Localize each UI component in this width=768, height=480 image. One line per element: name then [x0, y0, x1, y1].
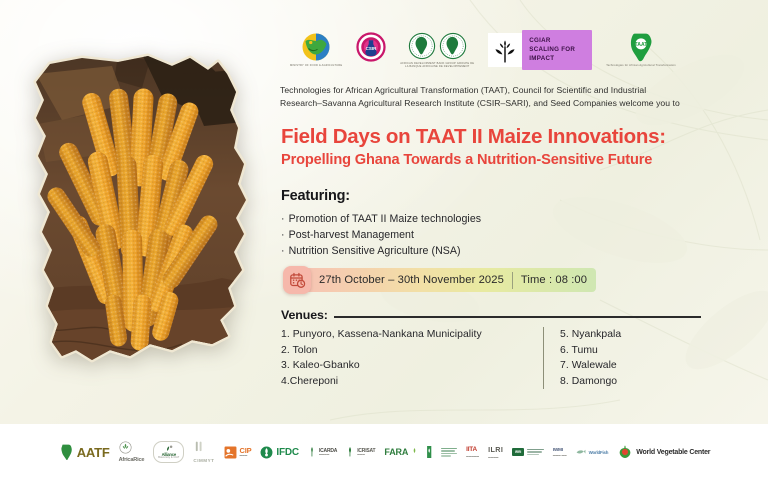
- featuring-list: ·Promotion of TAAT II Maize technologies…: [281, 211, 701, 259]
- ministry-logo-caption: MINISTRY OF FOOD & AGRICULTURE: [290, 64, 342, 67]
- ministry-of-food-and-agriculture-logo: MINISTRY OF FOOD & AGRICULTURE: [290, 32, 342, 67]
- featuring-item-label: Post-harvest Management: [289, 227, 414, 243]
- africarice-logo: AfricaRice: [119, 441, 145, 463]
- icrisat-logo: ICRISAT ▬▬▬: [346, 447, 375, 457]
- irri-mark: IRRI: [512, 448, 524, 456]
- schedule-pill: 27th October – 30th November 2025 Time :…: [301, 268, 596, 292]
- fara-wordmark: FARA: [384, 447, 408, 457]
- cgiar-logo: CGIAR SCALING FOR IMPACT: [488, 30, 592, 71]
- bullet-icon: ·: [281, 211, 285, 227]
- irri-wordmark-lines: [527, 449, 544, 456]
- list-item: 2. Tolon: [281, 343, 543, 359]
- bioversity-wordmark-lines: [441, 448, 457, 457]
- venues-rule: [334, 316, 701, 318]
- list-item: ·Post-harvest Management: [281, 227, 701, 243]
- icrisat-subtitle: ▬▬▬: [357, 454, 365, 457]
- cimmyt-logo: CIMMYT: [193, 441, 214, 463]
- cip-logo: CIP ▬▬▬: [224, 446, 252, 459]
- intro-line-1: Technologies for African Agricultural Tr…: [280, 84, 750, 97]
- icarda-logo: ICARDA ▬▬▬▬: [308, 447, 337, 457]
- venues-section: Venues: 1. Punyoro, Kassena-Nankana Muni…: [281, 308, 701, 389]
- alliance-subtitle: Bioversity & CIAT: [158, 457, 179, 460]
- list-item: 1. Punyoro, Kassena-Nankana Municipality: [281, 327, 543, 343]
- ifdc-wordmark: IFDC: [276, 447, 299, 458]
- world-vegetable-center-wordmark: World Vegetable Center: [636, 449, 710, 456]
- cgiar-line-3: IMPACT: [529, 54, 585, 63]
- taat-logo: TAAT Technologies for African Agricultur…: [606, 32, 676, 67]
- ilri-subtitle: ▬▬▬▬: [488, 457, 498, 460]
- list-item: ·Nutrition Sensitive Agriculture (NSA): [281, 243, 701, 259]
- poster-root: MINISTRY OF FOOD & AGRICULTURE CSIR: [0, 0, 768, 480]
- icarda-subtitle: ▬▬▬▬: [319, 454, 329, 457]
- list-item: 7. Walewale: [560, 358, 621, 374]
- iita-wordmark: IITA: [466, 446, 477, 453]
- cgiar-plant-mark-icon: [488, 33, 522, 67]
- list-item: 3. Kaleo-Gbanko: [281, 358, 543, 374]
- title-block: Field Days on TAAT II Maize Innovations:…: [281, 126, 761, 169]
- cip-subtitle: ▬▬▬: [240, 455, 248, 458]
- list-item: 6. Tumu: [560, 343, 621, 359]
- featuring-heading: Featuring:: [281, 188, 701, 204]
- ifdc-logo: IFDC: [260, 446, 299, 459]
- csir-logo-caption: [371, 64, 372, 67]
- ghana-map-maize-image: [22, 44, 272, 414]
- featuring-section: Featuring: ·Promotion of TAAT II Maize t…: [281, 188, 701, 259]
- bullet-icon: ·: [281, 243, 285, 259]
- csir-logo: CSIR: [356, 32, 386, 67]
- venues-heading: Venues:: [281, 308, 328, 322]
- iita-subtitle: ▬▬▬▬▬: [466, 456, 479, 459]
- world-vegetable-center-logo: World Vegetable Center: [617, 444, 710, 460]
- bullet-icon: ·: [281, 227, 285, 243]
- venues-header: Venues:: [281, 308, 701, 322]
- page-subtitle: Propelling Ghana Towards a Nutrition-Sen…: [281, 152, 761, 170]
- bioversity-logo: [427, 446, 457, 458]
- header-logo-strip: MINISTRY OF FOOD & AGRICULTURE CSIR: [290, 22, 750, 78]
- schedule-banner: 27th October – 30th November 2025 Time :…: [283, 265, 596, 295]
- ilri-wordmark: ILRI: [488, 445, 503, 454]
- iwmi-wordmark: IWMI: [553, 447, 563, 452]
- iwmi-logo: IWMI ▬▬▬ ▬▬: [553, 447, 567, 458]
- aatf-wordmark: AATF: [77, 445, 110, 460]
- list-item: 4.Chereponi: [281, 374, 543, 390]
- intro-line-2: Research–Savanna Agricultural Research I…: [280, 97, 750, 110]
- calendar-clock-icon: [283, 266, 311, 294]
- intro-paragraph: Technologies for African Agricultural Tr…: [280, 84, 750, 111]
- iita-logo: IITA ▬▬▬▬▬: [466, 446, 479, 459]
- page-title: Field Days on TAAT II Maize Innovations:: [281, 126, 761, 149]
- irri-logo: IRRI: [512, 448, 544, 456]
- list-item: 8. Damongo: [560, 374, 621, 390]
- featuring-item-label: Nutrition Sensitive Agriculture (NSA): [289, 243, 461, 259]
- aatf-logo: AATF: [58, 444, 110, 460]
- african-development-bank-logo: AFRICAN DEVELOPMENT BANK GROUP GROUPE DE…: [400, 32, 474, 68]
- afdb-logo-caption: AFRICAN DEVELOPMENT BANK GROUP GROUPE DE…: [400, 62, 474, 68]
- cgiar-line-2: SCALING FOR: [529, 45, 585, 54]
- venues-columns: 1. Punyoro, Kassena-Nankana Municipality…: [281, 327, 701, 389]
- ilri-logo: ILRI ▬▬▬▬: [488, 445, 503, 460]
- cimmyt-wordmark: CIMMYT: [193, 458, 214, 463]
- list-item: 5. Nyankpala: [560, 327, 621, 343]
- fara-logo: FARA: [384, 447, 418, 457]
- svg-text:TAAT: TAAT: [635, 43, 649, 49]
- alliance-bioversity-ciat-logo: Alliance Bioversity & CIAT: [153, 441, 184, 463]
- taat-logo-caption: Technologies for African Agricultural Tr…: [606, 64, 676, 67]
- venues-right-column: 5. Nyankpala 6. Tumu 7. Walewale 8. Damo…: [543, 327, 621, 389]
- featuring-item-label: Promotion of TAAT II Maize technologies: [289, 211, 482, 227]
- cgiar-wordmark: CGIAR SCALING FOR IMPACT: [522, 30, 592, 71]
- venues-left-column: 1. Punyoro, Kassena-Nankana Municipality…: [281, 327, 543, 389]
- iwmi-subtitle: ▬▬▬ ▬▬: [553, 455, 567, 458]
- event-time: Time : 08 :00: [521, 274, 587, 286]
- worldfish-logo: WorldFish: [576, 448, 609, 457]
- svg-text:CSIR: CSIR: [366, 46, 378, 51]
- partner-logo-band: AATF AfricaRice Alliance Bioversity & CI…: [0, 424, 768, 480]
- africarice-wordmark: AfricaRice: [119, 457, 145, 463]
- list-item: ·Promotion of TAAT II Maize technologies: [281, 211, 701, 227]
- schedule-divider: [512, 272, 513, 289]
- event-dates: 27th October – 30th November 2025: [319, 274, 504, 286]
- cgiar-line-1: CGIAR: [529, 36, 585, 45]
- worldfish-wordmark: WorldFish: [589, 450, 609, 455]
